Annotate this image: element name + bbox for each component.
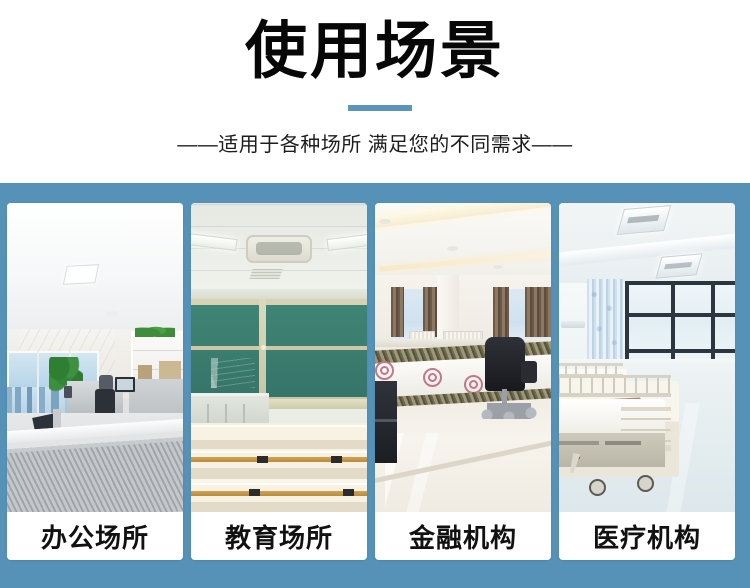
- bank-chair-base-wheels: [481, 403, 539, 419]
- scenes-panel: 办公场所: [0, 183, 750, 588]
- bank-curtain: [391, 287, 404, 337]
- page-title: 使用场景: [0, 14, 750, 90]
- bank-downlight: [493, 265, 503, 269]
- page-subtitle: ——适用于各种场所 满足您的不同需求——: [0, 131, 750, 159]
- hospital-bed-caster: [589, 479, 606, 496]
- classroom-desk-row: [191, 483, 367, 512]
- header-section: 使用场景 ——适用于各种场所 满足您的不同需求——: [0, 0, 750, 183]
- hospital-ceiling-light: [655, 253, 702, 278]
- scene-card-finance[interactable]: 金融机构: [375, 203, 551, 560]
- classroom-desk-clip: [343, 489, 354, 496]
- scene-card-medical[interactable]: 医疗机构: [559, 203, 735, 560]
- bank-downlight: [447, 246, 458, 251]
- bank-curtain: [493, 287, 509, 337]
- office-ceiling-spotlight: [105, 311, 119, 316]
- bank-foreground-cabinet: [375, 381, 397, 463]
- classroom-chalk-writing: [211, 358, 255, 388]
- scenes-row: 办公场所: [7, 203, 743, 560]
- office-shelf-plant: [135, 323, 175, 337]
- hospital-ceiling-light: [617, 205, 671, 235]
- bank-curtain: [525, 287, 551, 337]
- promo-page: 使用场景 ——适用于各种场所 满足您的不同需求——: [0, 0, 750, 588]
- hospital-window-frame: [711, 281, 715, 363]
- office-chair-back: [99, 375, 113, 389]
- classroom-desk-clip: [257, 456, 268, 463]
- hospital-window-frame: [625, 313, 735, 317]
- title-divider: [348, 105, 412, 111]
- office-storage-box: [159, 361, 181, 381]
- office-counter-grille: [7, 440, 183, 512]
- scene-label-education: 教育场所: [191, 512, 367, 560]
- scene-label-finance: 金融机构: [375, 512, 551, 560]
- bank-counter-emblem: [375, 361, 394, 380]
- office-storage-box: [138, 365, 152, 379]
- classroom-desk-row: [191, 425, 367, 449]
- classroom-desk-clip: [331, 456, 342, 463]
- hospital-window-frame: [625, 281, 735, 285]
- bank-downlight: [379, 219, 391, 224]
- office-reception-counter: [7, 418, 183, 512]
- classroom-ceiling-air-conditioner: [246, 235, 312, 263]
- hospital-bed-caster: [637, 475, 654, 492]
- hospital-window-frame: [625, 281, 629, 363]
- classroom-chalkboard-rail: [191, 346, 367, 350]
- office-interior-photo: [7, 203, 183, 512]
- hospital-bed-side-rail: [559, 375, 671, 397]
- scene-card-office[interactable]: 办公场所: [7, 203, 183, 560]
- office-monitor: [115, 377, 135, 392]
- office-monitor: [64, 386, 72, 398]
- scene-card-education[interactable]: 教育场所: [191, 203, 367, 560]
- classroom-interior-photo: [191, 203, 367, 512]
- bank-chair-armrest: [521, 361, 537, 383]
- hospital-window-frame: [671, 281, 675, 363]
- scene-label-medical: 医疗机构: [559, 512, 735, 560]
- bank-interior-photo: [375, 203, 551, 512]
- hospital-window-frame: [625, 349, 735, 353]
- classroom-ceiling-vent: [249, 269, 282, 279]
- office-ceiling-panel-light: [63, 264, 99, 285]
- scene-label-office: 办公场所: [7, 512, 183, 560]
- office-window-mullion: [37, 351, 39, 417]
- bank-counter-emblem: [423, 368, 442, 387]
- hospital-ward-photo: [559, 203, 735, 512]
- hospital-curtain-pattern: [587, 279, 623, 365]
- classroom-chalkboard-knob: [261, 345, 266, 350]
- bank-office-chair: [485, 337, 525, 391]
- classroom-desk-trim: [191, 491, 367, 496]
- classroom-desk-clip: [249, 489, 260, 496]
- hospital-wall-rail: [561, 321, 585, 328]
